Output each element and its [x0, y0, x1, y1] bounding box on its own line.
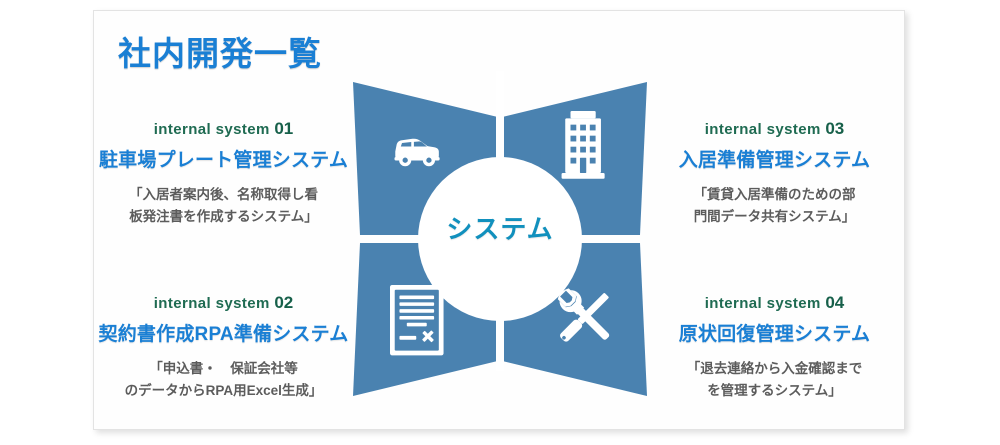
system-eyebrow-prefix-02: internal system: [154, 295, 270, 312]
system-description-line2-03: 門間データ共有システム」: [653, 206, 896, 228]
system-description-line1-03: 「賃貸入居準備のための部: [653, 184, 896, 206]
system-eyebrow-prefix-03: internal system: [705, 121, 821, 138]
building-icon: [562, 111, 605, 179]
system-description-03: 「賃貸入居準備のための部 門間データ共有システム」: [647, 184, 902, 229]
slide-card: 社内開発一覧: [93, 10, 905, 430]
system-description-line2-01: 板発注書を作成するシステム」: [102, 206, 345, 228]
car-icon: [394, 139, 439, 167]
system-eyebrow-01: internal system 01: [96, 119, 351, 139]
system-title-04: 原状回復管理システム: [647, 319, 902, 346]
page-title: 社内開発一覧: [118, 27, 322, 75]
system-description-line1-02: 「申込書・ 保証会社等: [102, 358, 345, 380]
system-eyebrow-prefix-01: internal system: [154, 121, 270, 138]
tools-icon: [554, 284, 615, 345]
system-eyebrow-number-02: 02: [274, 293, 293, 312]
system-eyebrow-04: internal system 04: [647, 293, 902, 313]
system-eyebrow-number-01: 01: [274, 119, 293, 138]
system-eyebrow-03: internal system 03: [647, 119, 902, 139]
document-reject-icon: [390, 285, 444, 355]
system-block-03: internal system 03 入居準備管理システム 「賃貸入居準備のため…: [647, 119, 902, 229]
system-description-02: 「申込書・ 保証会社等 のデータからRPA用Excel生成」: [96, 358, 351, 403]
system-description-line1-04: 「退去連絡から入金確認まで: [653, 358, 896, 380]
center-label: システム: [400, 209, 600, 246]
system-block-01: internal system 01 駐車場プレート管理システム 「入居者案内後…: [96, 119, 351, 229]
system-eyebrow-prefix-04: internal system: [705, 295, 821, 312]
system-title-02: 契約書作成RPA準備システム: [96, 319, 351, 346]
system-title-01: 駐車場プレート管理システム: [96, 145, 351, 172]
quadrant-shape-bottom-right: [486, 243, 647, 396]
system-block-04: internal system 04 原状回復管理システム 「退去連絡から入金確…: [647, 293, 902, 403]
quadrant-shape-bottom-left: [353, 243, 514, 396]
system-eyebrow-02: internal system 02: [96, 293, 351, 313]
system-eyebrow-number-03: 03: [825, 119, 844, 138]
system-description-04: 「退去連絡から入金確認まで を管理するシステム」: [647, 358, 902, 403]
system-description-line1-01: 「入居者案内後、名称取得し看: [102, 184, 345, 206]
system-description-line2-02: のデータからRPA用Excel生成」: [102, 380, 345, 402]
system-eyebrow-number-04: 04: [825, 293, 844, 312]
system-title-03: 入居準備管理システム: [647, 145, 902, 172]
system-description-01: 「入居者案内後、名称取得し看 板発注書を作成するシステム」: [96, 184, 351, 229]
system-description-line2-04: を管理するシステム」: [653, 380, 896, 402]
system-block-02: internal system 02 契約書作成RPA準備システム 「申込書・ …: [96, 293, 351, 403]
